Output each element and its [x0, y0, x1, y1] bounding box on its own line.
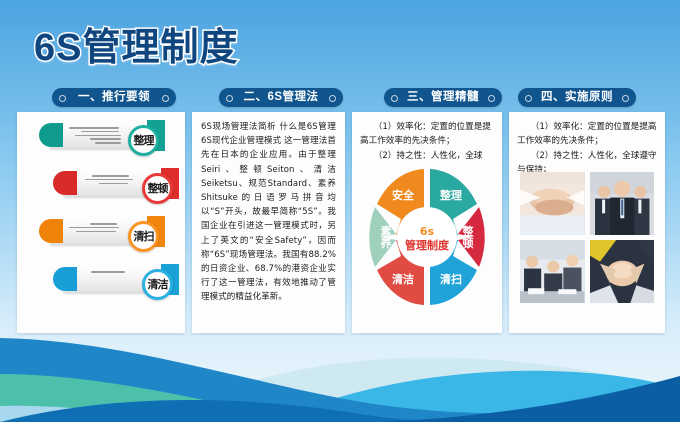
- ribbon-tail: [53, 267, 77, 291]
- tab-section-3[interactable]: 三、管理精髓: [384, 88, 502, 107]
- photo-meeting-discussion: [520, 240, 585, 303]
- panel-implementation-principles: （1）效率化：定置的位置是提高工作效率的先决条件； （2）持之性：人性化，全球遵…: [509, 112, 665, 333]
- poster-title-wrap: 6S管理制度: [34, 24, 454, 74]
- photo-hands-stack-art: [520, 172, 585, 235]
- photo-hands-together-top: [590, 240, 655, 303]
- ribbon-tail: [39, 123, 63, 147]
- panel-body-text: 6S现场管理法简析 什么是6S管理 6S现代企业管理模式 这一管理法首先在日本的…: [192, 112, 345, 305]
- wheel-label-anquan: 安全: [392, 188, 415, 202]
- ribbon-placeholder-lines: [83, 271, 135, 275]
- principles-list: （1）效率化：定置的位置是提高工作效率的先决条件； （2）持之性：人性化，全球遵…: [509, 112, 665, 178]
- photo-business-team-art: [590, 172, 655, 235]
- ribbon-item: 整理: [39, 122, 165, 152]
- photo-grid: [520, 172, 654, 303]
- ribbon-badge: 整顿: [142, 173, 173, 204]
- panel-management-essence: （1）效率化：定置的位置是提高工作效率的先决条件； （2）持之性：人性化，全球: [352, 112, 502, 333]
- tab-section-1[interactable]: 一、推行要领: [52, 88, 176, 107]
- ribbon-badge: 清洁: [142, 269, 173, 300]
- principle-line: （2）持之性：人性化，全球: [360, 149, 494, 163]
- tab-section-4[interactable]: 四、实施原则: [518, 88, 636, 107]
- ribbon-item: 清洁: [53, 266, 179, 296]
- photo-hands-together-art: [590, 240, 655, 303]
- principles-list: （1）效率化：定置的位置是提高工作效率的先决条件； （2）持之性：人性化，全球: [352, 112, 502, 163]
- wheel-label-suyang: 素养: [380, 224, 393, 250]
- ribbon-badge: 整理: [128, 125, 159, 156]
- ribbon-placeholder-lines: [83, 175, 135, 186]
- wheel-label-zhengli: 整理: [439, 188, 462, 202]
- panel-implementation-points: 整理 整顿 清扫: [17, 112, 185, 333]
- six-s-wheel-diagram: 整理 整顿 清扫 清洁 素养 安全 6s 管理制度: [365, 167, 489, 307]
- ribbon-item: 清扫: [39, 218, 165, 248]
- ribbon-item: 整顿: [53, 170, 179, 200]
- panel-6s-method: 6S现场管理法简析 什么是6S管理 6S现代企业管理模式 这一管理法首先在日本的…: [192, 112, 345, 333]
- photo-meeting-art: [520, 240, 585, 303]
- wheel-center-top: 6s: [420, 225, 435, 238]
- wheel-center-bottom: 管理制度: [405, 238, 450, 252]
- ribbon-badge: 清扫: [128, 221, 159, 252]
- ribbon-placeholder-lines: [69, 223, 121, 234]
- wheel-svg: 整理 整顿 清扫 清洁 素养 安全 6s 管理制度: [365, 167, 489, 307]
- ribbon-tail: [39, 219, 63, 243]
- wheel-label-qingsao: 清扫: [440, 272, 462, 286]
- photo-business-team-standing: [590, 172, 655, 235]
- ribbon-tail: [53, 171, 77, 195]
- principle-line: （1）效率化：定置的位置是提高工作效率的先决条件；: [517, 120, 657, 149]
- poster-root: 6S管理制度 一、推行要领 二、6S管理法 三、管理精髓 四、实施原则 整理: [0, 0, 680, 422]
- ribbon-placeholder-lines: [69, 127, 121, 146]
- principle-line: （1）效率化：定置的位置是提高工作效率的先决条件；: [360, 120, 494, 149]
- wave-svg: [0, 322, 680, 422]
- wheel-label-zhengdun: 整顿: [462, 224, 474, 250]
- bottom-wave-decoration: [0, 322, 680, 422]
- photo-hands-stack: [520, 172, 585, 235]
- page-title: 6S管理制度: [34, 24, 454, 72]
- wheel-label-qingjie: 清洁: [392, 272, 414, 286]
- tab-section-2[interactable]: 二、6S管理法: [219, 88, 343, 107]
